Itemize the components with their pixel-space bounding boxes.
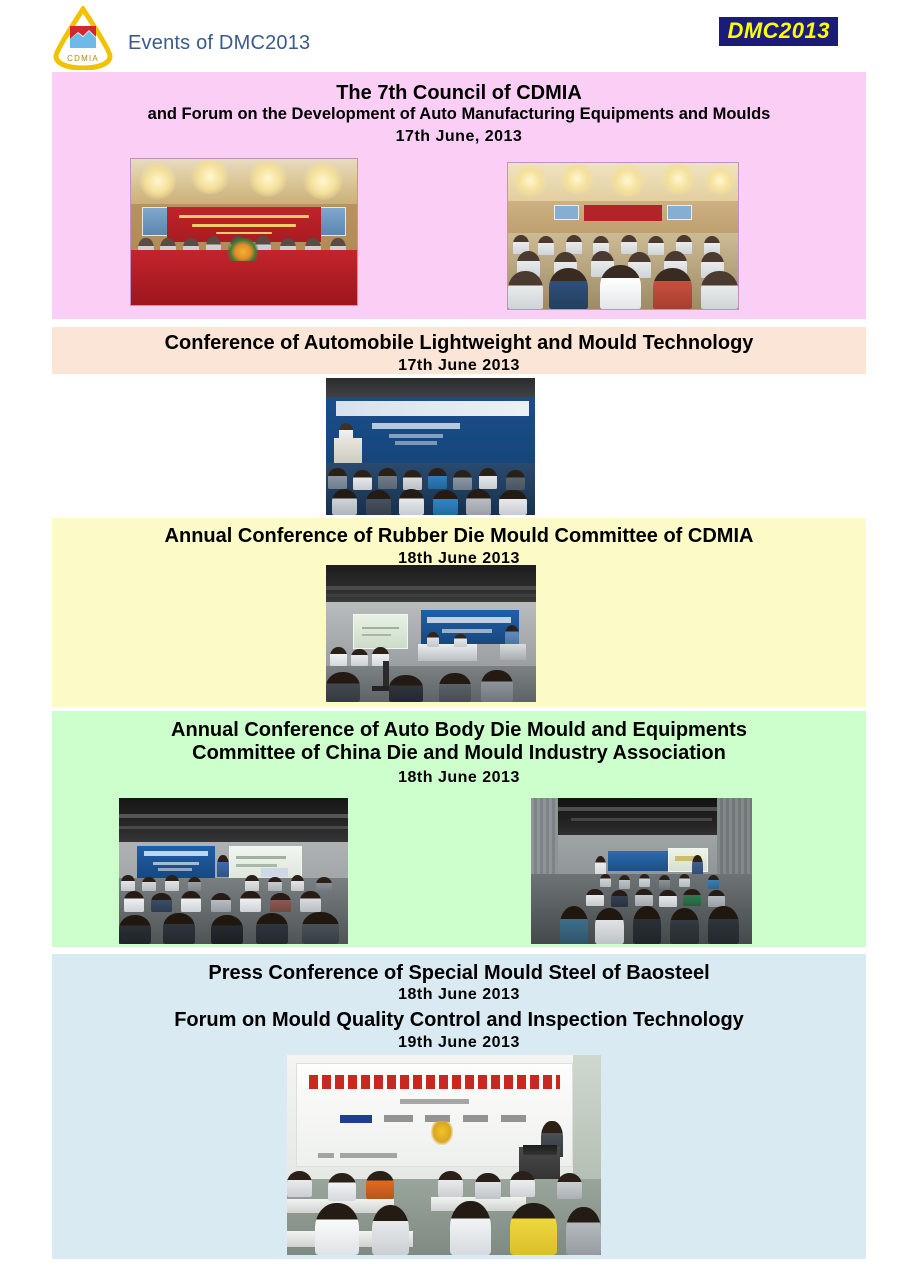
photo-council-audience [507, 162, 739, 310]
section-4-title-line2: Committee of China Die and Mould Industr… [52, 742, 866, 765]
section-baosteel-and-quality: Press Conference of Special Mould Steel … [52, 954, 866, 1259]
section-4-date: 18th June 2013 [52, 768, 866, 789]
events-poster-page: CDMIA Events of DMC2013 DMC2013 The 7th … [0, 0, 898, 1273]
section-council-cdmia: The 7th Council of CDMIA and Forum on th… [52, 72, 866, 319]
photo-autobody-room-left [119, 798, 348, 944]
section-5-title-line2: Forum on Mould Quality Control and Inspe… [52, 1009, 866, 1032]
section-4-title-line1: Annual Conference of Auto Body Die Mould… [52, 711, 866, 742]
cdmia-logo-icon: CDMIA [52, 6, 114, 70]
section-5-date-2: 19th June 2013 [52, 1033, 866, 1054]
section-auto-body-die-mould: Annual Conference of Auto Body Die Mould… [52, 711, 866, 947]
section-1-title-line1: The 7th Council of CDMIA [52, 72, 866, 105]
page-title: Events of DMC2013 [128, 32, 310, 55]
section-automobile-lightweight: Conference of Automobile Lightweight and… [52, 327, 866, 374]
section-1-date: 17th June, 2013 [52, 127, 866, 148]
photo-inspection-forum [287, 1055, 601, 1255]
section-5-date-1: 18th June 2013 [52, 985, 866, 1006]
section-2-title: Conference of Automobile Lightweight and… [52, 327, 866, 355]
photo-lightweight-lecture [326, 378, 535, 515]
page-header: CDMIA Events of DMC2013 DMC2013 [0, 0, 898, 72]
dmc2013-badge: DMC2013 [719, 17, 838, 46]
photo-rubber-meeting [326, 565, 536, 702]
section-1-title-line2: and Forum on the Development of Auto Man… [52, 105, 866, 124]
section-5-title-line1: Press Conference of Special Mould Steel … [52, 954, 866, 985]
section-rubber-die-mould: Annual Conference of Rubber Die Mould Co… [52, 518, 866, 707]
photo-autobody-room-right [531, 798, 752, 944]
section-3-title: Annual Conference of Rubber Die Mould Co… [52, 518, 866, 548]
section-2-date: 17th June 2013 [52, 356, 866, 377]
photo-council-head-table [130, 158, 358, 306]
svg-text:CDMIA: CDMIA [67, 54, 99, 63]
